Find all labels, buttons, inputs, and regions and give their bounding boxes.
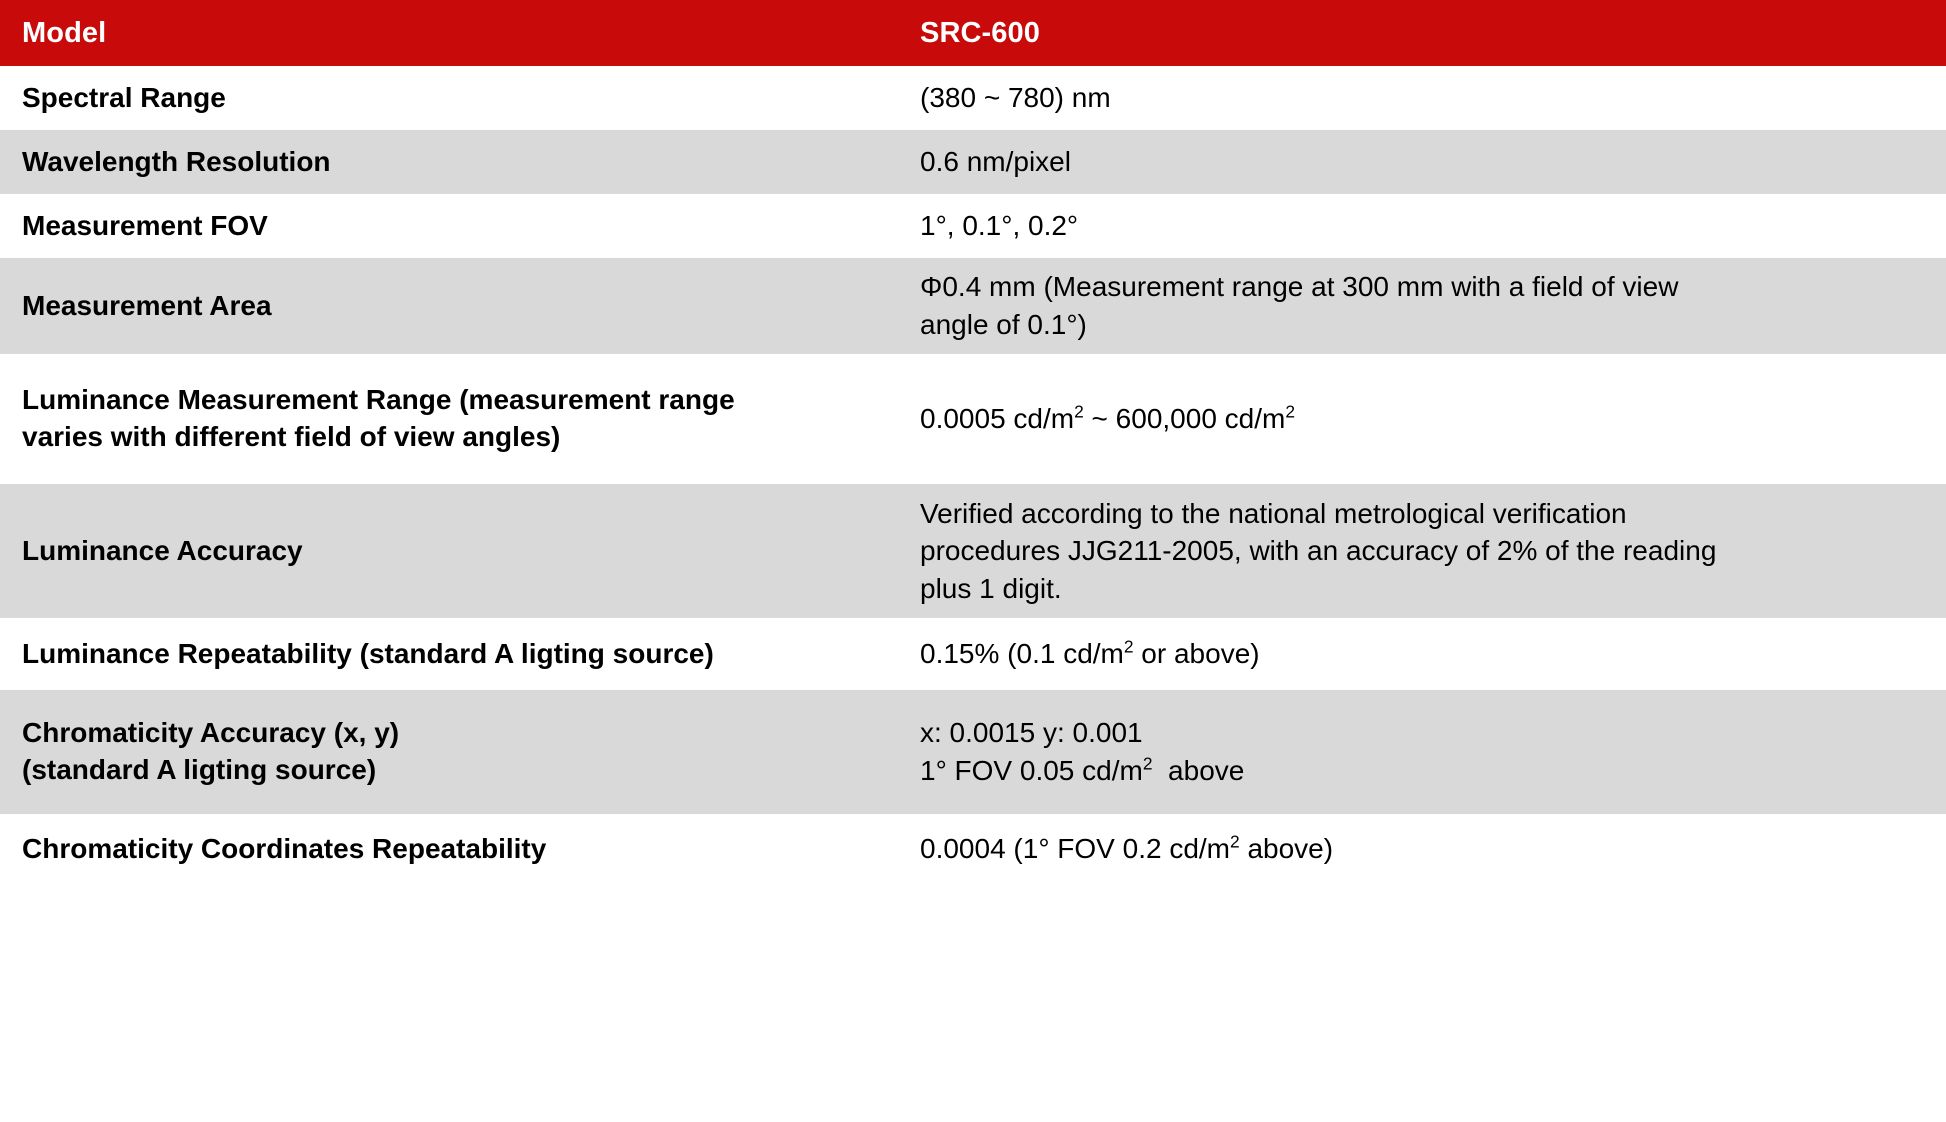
row-value-line: 0.0005 cd/m2 ~ 600,000 cd/m2 bbox=[920, 400, 1916, 438]
table-header-row: Model SRC-600 bbox=[0, 0, 1946, 66]
row-label-luminance-repeatability: Luminance Repeatability (standard A ligt… bbox=[0, 618, 920, 690]
row-value-line: procedures JJG211-2005, with an accuracy… bbox=[920, 532, 1916, 570]
row-value-line: x: 0.0015 y: 0.001 bbox=[920, 714, 1916, 752]
row-value-measurement-area: Φ0.4 mm (Measurement range at 300 mm wit… bbox=[920, 258, 1946, 354]
table-row: Chromaticity Coordinates Repeatability 0… bbox=[0, 814, 1946, 884]
row-label-luminance-accuracy: Luminance Accuracy bbox=[0, 484, 920, 618]
row-value-line: (380 ~ 780) nm bbox=[920, 79, 1916, 117]
row-label-line: (standard A ligting source) bbox=[22, 752, 906, 789]
table-body: Spectral Range (380 ~ 780) nm Wavelength… bbox=[0, 66, 1946, 884]
specification-table: Model SRC-600 Spectral Range (380 ~ 780)… bbox=[0, 0, 1946, 884]
row-value-line: Verified according to the national metro… bbox=[920, 495, 1916, 533]
row-label-line: Measurement Area bbox=[22, 288, 906, 325]
row-value-line: plus 1 digit. bbox=[920, 570, 1916, 608]
row-label-line: Luminance Repeatability (standard A ligt… bbox=[22, 636, 906, 673]
superscript-two: 2 bbox=[1230, 832, 1240, 852]
row-value-line: 1° FOV 0.05 cd/m2 above bbox=[920, 752, 1916, 790]
row-value-wavelength-resolution: 0.6 nm/pixel bbox=[920, 130, 1946, 194]
row-value-chromaticity-accuracy: x: 0.0015 y: 0.001 1° FOV 0.05 cd/m2 abo… bbox=[920, 690, 1946, 814]
superscript-two: 2 bbox=[1143, 754, 1153, 774]
row-value-line: 0.6 nm/pixel bbox=[920, 143, 1916, 181]
row-label-wavelength-resolution: Wavelength Resolution bbox=[0, 130, 920, 194]
row-label-line: Spectral Range bbox=[22, 80, 906, 117]
row-value-chromaticity-coordinates-repeatability: 0.0004 (1° FOV 0.2 cd/m2 above) bbox=[920, 814, 1946, 884]
row-value-luminance-repeatability: 0.15% (0.1 cd/m2 or above) bbox=[920, 618, 1946, 690]
superscript-two: 2 bbox=[1074, 402, 1084, 422]
table-row: Chromaticity Accuracy (x, y) (standard A… bbox=[0, 690, 1946, 814]
table-row: Luminance Repeatability (standard A ligt… bbox=[0, 618, 1946, 690]
row-label-line: varies with different field of view angl… bbox=[22, 419, 906, 456]
row-value-luminance-accuracy: Verified according to the national metro… bbox=[920, 484, 1946, 618]
table-row: Luminance Accuracy Verified according to… bbox=[0, 484, 1946, 618]
row-value-line: 0.15% (0.1 cd/m2 or above) bbox=[920, 635, 1916, 673]
header-cell-model-value: SRC-600 bbox=[920, 0, 1946, 66]
row-value-measurement-fov: 1°, 0.1°, 0.2° bbox=[920, 194, 1946, 258]
superscript-two: 2 bbox=[1285, 402, 1295, 422]
row-value-spectral-range: (380 ~ 780) nm bbox=[920, 66, 1946, 130]
row-value-luminance-measurement-range: 0.0005 cd/m2 ~ 600,000 cd/m2 bbox=[920, 354, 1946, 484]
table-row: Wavelength Resolution 0.6 nm/pixel bbox=[0, 130, 1946, 194]
row-label-spectral-range: Spectral Range bbox=[0, 66, 920, 130]
table-header: Model SRC-600 bbox=[0, 0, 1946, 66]
row-label-chromaticity-accuracy: Chromaticity Accuracy (x, y) (standard A… bbox=[0, 690, 920, 814]
row-label-line: Measurement FOV bbox=[22, 208, 906, 245]
row-label-line: Wavelength Resolution bbox=[22, 144, 906, 181]
row-label-measurement-area: Measurement Area bbox=[0, 258, 920, 354]
row-label-measurement-fov: Measurement FOV bbox=[0, 194, 920, 258]
table-row: Spectral Range (380 ~ 780) nm bbox=[0, 66, 1946, 130]
superscript-two: 2 bbox=[1124, 637, 1134, 657]
row-value-line: 1°, 0.1°, 0.2° bbox=[920, 207, 1916, 245]
row-label-luminance-measurement-range: Luminance Measurement Range (measurement… bbox=[0, 354, 920, 484]
row-label-line: Chromaticity Accuracy (x, y) bbox=[22, 715, 906, 752]
table-row: Luminance Measurement Range (measurement… bbox=[0, 354, 1946, 484]
table-row: Measurement Area Φ0.4 mm (Measurement ra… bbox=[0, 258, 1946, 354]
row-value-line: 0.0004 (1° FOV 0.2 cd/m2 above) bbox=[920, 830, 1916, 868]
row-value-line: angle of 0.1°) bbox=[920, 306, 1916, 344]
row-label-line: Chromaticity Coordinates Repeatability bbox=[22, 831, 906, 868]
header-cell-model: Model bbox=[0, 0, 920, 66]
row-label-line: Luminance Measurement Range (measurement… bbox=[22, 382, 906, 419]
row-value-line: Φ0.4 mm (Measurement range at 300 mm wit… bbox=[920, 268, 1916, 306]
row-label-chromaticity-coordinates-repeatability: Chromaticity Coordinates Repeatability bbox=[0, 814, 920, 884]
row-label-line: Luminance Accuracy bbox=[22, 533, 906, 570]
table-row: Measurement FOV 1°, 0.1°, 0.2° bbox=[0, 194, 1946, 258]
